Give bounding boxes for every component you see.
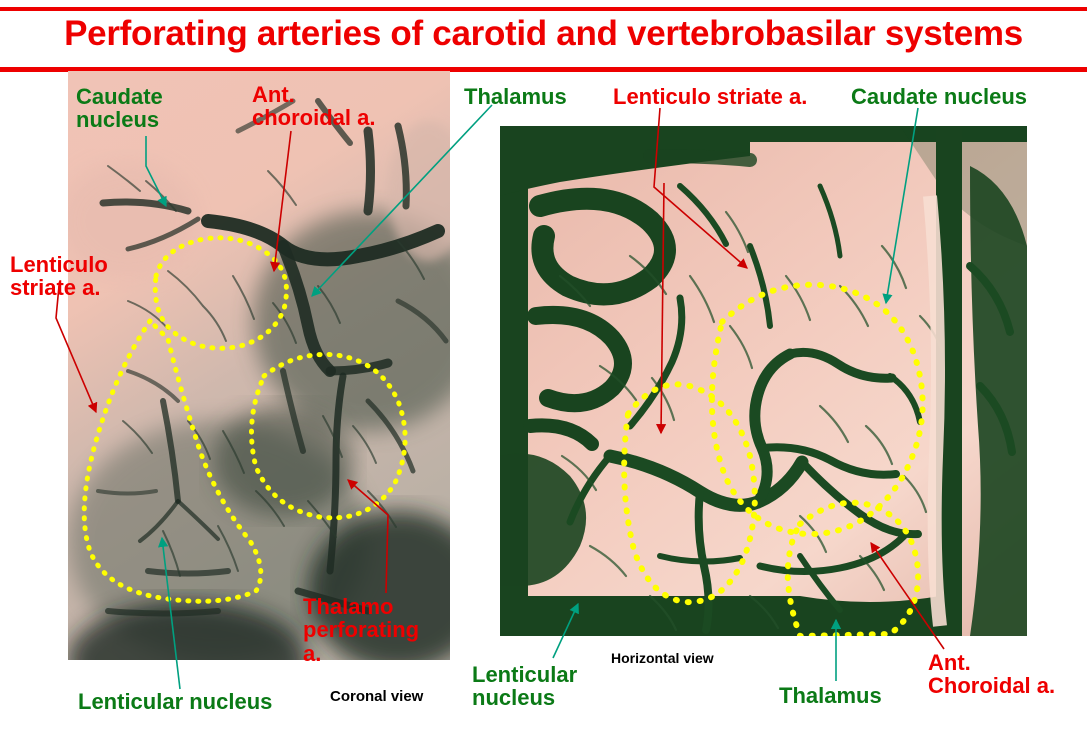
coronal-view-image: [68, 71, 450, 660]
title-band: Perforating arteries of carotid and vert…: [0, 7, 1087, 61]
horizontal-brain-section-graphic: [500, 126, 1027, 636]
label-thalamus-bottom-horizontal: Thalamus: [779, 684, 882, 707]
label-thalamoperforating-coronal: Thalamo perforating a.: [303, 595, 419, 665]
label-ant-choroidal-coronal: Ant. choroidal a.: [252, 83, 375, 130]
caption-horizontal-view: Horizontal view: [611, 651, 714, 666]
label-caudate-nucleus-horizontal: Caudate nucleus: [851, 85, 1027, 108]
label-lenticular-nucleus-horizontal: Lenticular nucleus: [472, 663, 577, 710]
coronal-brain-section-graphic: [68, 71, 450, 660]
label-ant-choroidal-horizontal: Ant. Choroidal a.: [928, 651, 1055, 698]
label-lenticulostriate-coronal: Lenticulo striate a.: [10, 253, 108, 300]
horizontal-view-image: [500, 126, 1027, 636]
slide-root: Perforating arteries of carotid and vert…: [0, 0, 1087, 727]
caption-coronal-view: Coronal view: [330, 689, 423, 705]
label-lenticulostriate-horizontal: Lenticulo striate a.: [613, 85, 807, 108]
page-title: Perforating arteries of carotid and vert…: [0, 9, 1087, 59]
label-lenticular-nucleus-coronal: Lenticular nucleus: [78, 690, 272, 713]
label-thalamus-top-horizontal: Thalamus: [464, 85, 567, 108]
label-caudate-nucleus-coronal: Caudate nucleus: [76, 85, 163, 132]
